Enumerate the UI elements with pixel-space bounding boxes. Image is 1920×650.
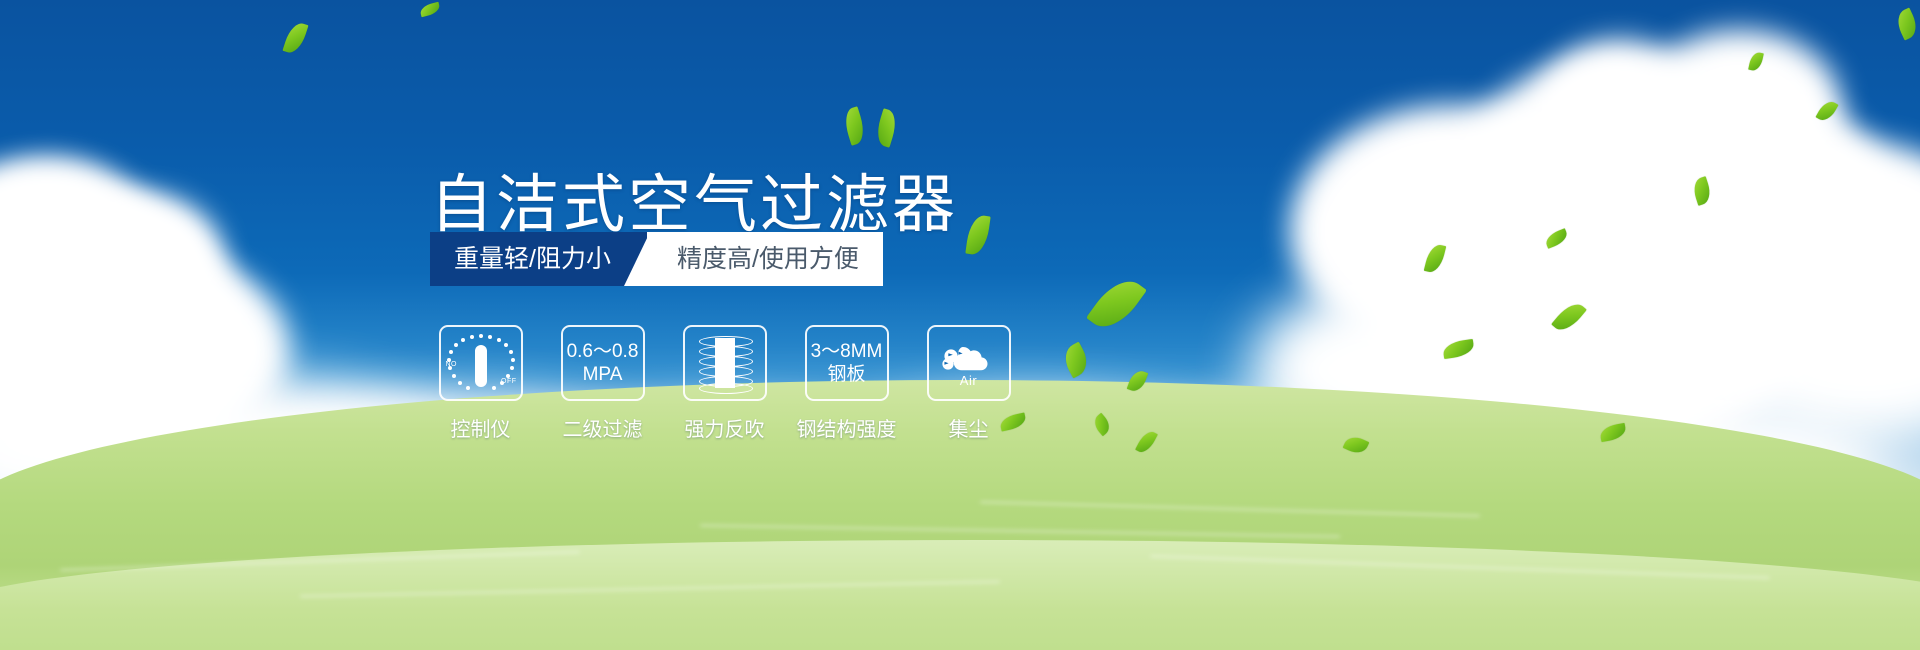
feature-caption: 钢结构强度 [797, 413, 897, 442]
dial-label-off: OFF [501, 378, 517, 385]
air-label: Air [960, 373, 977, 388]
feature-item-control-dial[interactable]: NO OFF 控制仪 [438, 325, 523, 442]
leaf-icon [841, 106, 868, 145]
page-title: 自洁式空气过滤器 [430, 174, 958, 237]
tag-precision-ease-label: 精度高/使用方便 [677, 245, 859, 273]
feature-caption: 集尘 [949, 413, 989, 442]
air-cloud-icon: Air [936, 335, 1002, 391]
feature-item-steel[interactable]: 3～8MM 钢板 钢结构强度 [804, 325, 889, 442]
feature-item-pressure[interactable]: 0.6～0.8 MPA 二级过滤 [560, 325, 645, 442]
tag-divider-wedge [624, 232, 650, 286]
feature-icon-box: NO OFF [439, 325, 523, 401]
steel-thickness: 3～8MM [811, 340, 883, 363]
feature-caption: 控制仪 [451, 413, 511, 442]
feature-item-backblow[interactable]: 强力反吹 [682, 325, 767, 442]
feature-list: NO OFF 控制仪 0.6～0.8 MPA 二级过滤 [438, 325, 1011, 442]
feature-caption: 强力反吹 [685, 413, 765, 442]
dial-pointer [475, 345, 487, 387]
hero-banner: 自洁式空气过滤器 重量轻/阻力小 精度高/使用方便 [0, 0, 1920, 650]
dial-label-on: NO [446, 361, 458, 368]
feature-caption: 二级过滤 [563, 413, 643, 442]
feature-icon-box: Air [927, 325, 1011, 401]
leaf-icon [873, 108, 900, 147]
banner-content: 自洁式空气过滤器 重量轻/阻力小 精度高/使用方便 [0, 0, 1920, 650]
tag-weight-resistance[interactable]: 重量轻/阻力小 [430, 232, 647, 286]
tag-group: 重量轻/阻力小 精度高/使用方便 [430, 232, 883, 286]
control-dial-icon: NO OFF [446, 333, 516, 393]
pressure-unit: MPA [583, 363, 623, 386]
feature-icon-box: 3～8MM 钢板 [805, 325, 889, 401]
filter-cartridge-icon [697, 334, 753, 392]
tag-precision-ease[interactable]: 精度高/使用方便 [647, 232, 883, 286]
pressure-value: 0.6～0.8 [567, 340, 639, 363]
feature-icon-box [683, 325, 767, 401]
steel-material: 钢板 [827, 363, 865, 386]
feature-icon-box: 0.6～0.8 MPA [561, 325, 645, 401]
feature-item-dust[interactable]: Air 集尘 [926, 325, 1011, 442]
